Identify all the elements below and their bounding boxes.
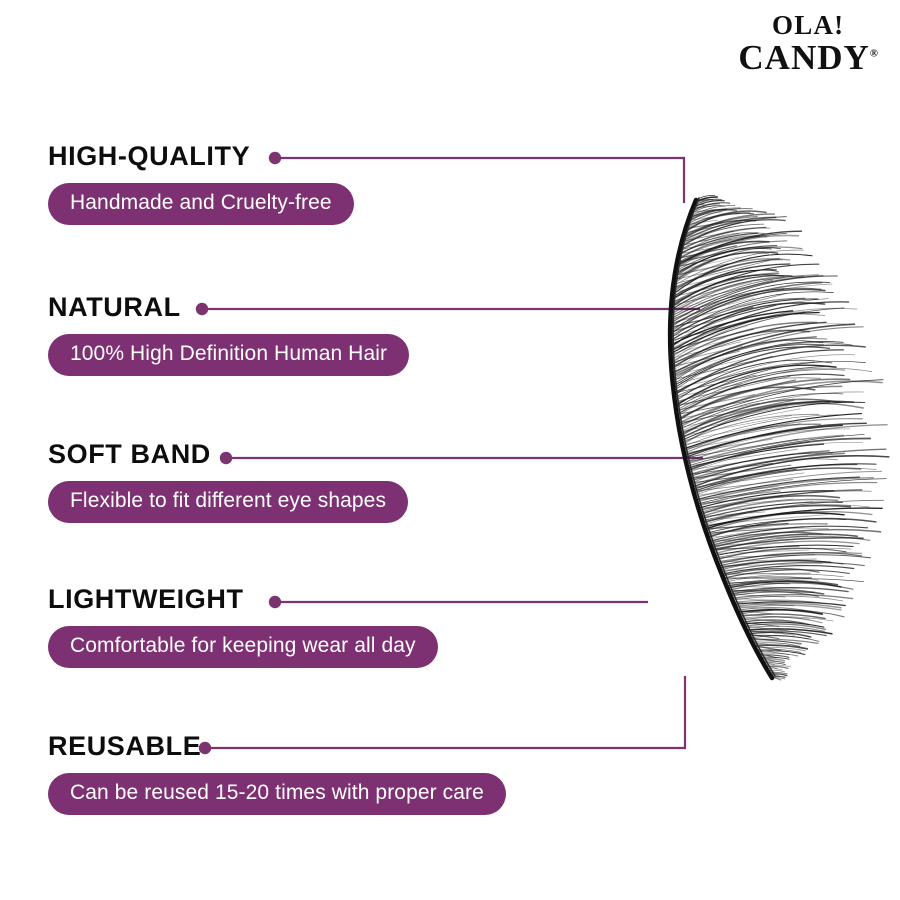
- feature-title: HIGH-QUALITY: [48, 143, 354, 170]
- feature-soft-band: SOFT BAND Flexible to fit different eye …: [48, 441, 408, 523]
- feature-title: REUSABLE: [48, 733, 506, 760]
- feature-title: SOFT BAND: [48, 441, 408, 468]
- feature-pill: Can be reused 15-20 times with proper ca…: [48, 773, 506, 815]
- feature-natural: NATURAL 100% High Definition Human Hair: [48, 294, 409, 376]
- feature-high-quality: HIGH-QUALITY Handmade and Cruelty-free: [48, 143, 354, 225]
- infographic-canvas: OLA! CANDY®: [0, 0, 900, 900]
- feature-lightweight: LIGHTWEIGHT Comfortable for keeping wear…: [48, 586, 438, 668]
- feature-title: NATURAL: [48, 294, 409, 321]
- feature-pill: Handmade and Cruelty-free: [48, 183, 354, 225]
- feature-pill: 100% High Definition Human Hair: [48, 334, 409, 376]
- feature-pill: Comfortable for keeping wear all day: [48, 626, 438, 668]
- feature-pill: Flexible to fit different eye shapes: [48, 481, 408, 523]
- eyelash-product-image: [600, 140, 900, 700]
- feature-reusable: REUSABLE Can be reused 15-20 times with …: [48, 733, 506, 815]
- feature-title: LIGHTWEIGHT: [48, 586, 438, 613]
